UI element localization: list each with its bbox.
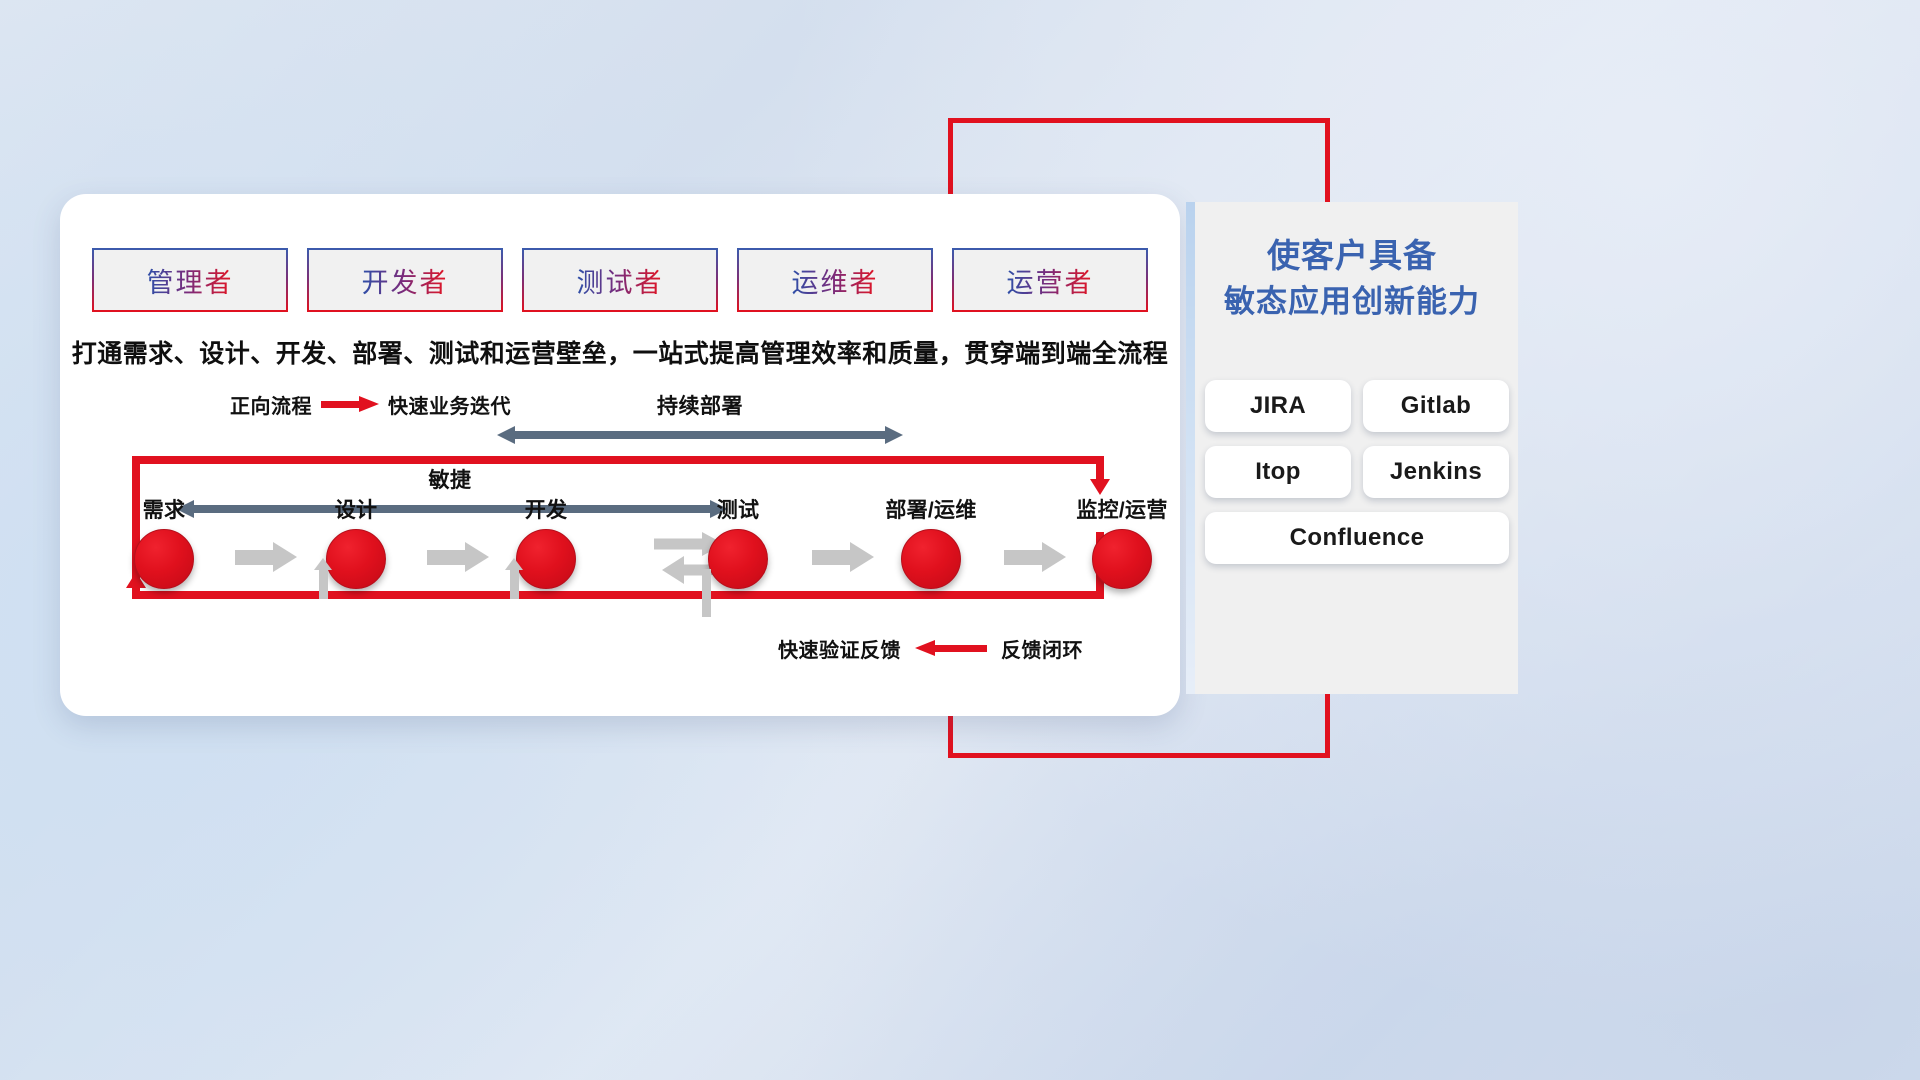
connector-bottom-right-vertical [1325, 694, 1330, 758]
pipeline-stage-development[interactable]: 开发 [482, 494, 610, 589]
pipeline-stage-requirement[interactable]: 需求 [100, 494, 228, 589]
feeder-line-design [319, 569, 328, 599]
feeder-arrowhead-design [314, 558, 332, 570]
role-box-row: 管理者 开发者 测试者 运维者 运营者 [92, 248, 1148, 312]
tool-chip-label: Jenkins [1390, 458, 1482, 486]
continuous-deployment-label: 持续部署 [490, 390, 910, 420]
stage-label: 部署/运维 [867, 494, 995, 524]
tool-chip-itop[interactable]: Itop [1205, 446, 1351, 498]
stage-dot [134, 529, 194, 589]
tool-chip-label: Confluence [1290, 524, 1425, 552]
role-label: 开发者 [362, 261, 449, 300]
feedback-left-label: 快速验证反馈 [778, 634, 901, 663]
connector-top-horizontal [948, 118, 1330, 123]
connector-bottom-horizontal [948, 753, 1330, 758]
pipeline-stage-monitor-operations[interactable]: 监控/运营 [1058, 494, 1186, 589]
forward-flow-legend: 正向流程 快速业务迭代 [230, 390, 511, 419]
chevron-arrow-right-icon [1004, 542, 1066, 572]
panel-title-line2: 敏态应用创新能力 [1186, 280, 1518, 325]
value-proposition-panel: 使客户具备 敏态应用创新能力 JIRA Gitlab Itop Jenkins … [1186, 202, 1518, 694]
tool-chip-confluence[interactable]: Confluence [1205, 512, 1509, 564]
pipeline-stage-test[interactable]: 测试 [674, 494, 802, 589]
stage-dot [516, 529, 576, 589]
tool-chip-jenkins[interactable]: Jenkins [1363, 446, 1509, 498]
feedback-loop-right-arrowhead [1090, 479, 1110, 495]
feeder-line-test [702, 569, 711, 617]
role-label: 管理者 [147, 261, 234, 300]
role-box-manager[interactable]: 管理者 [92, 248, 288, 312]
tool-chip-label: Itop [1255, 458, 1301, 486]
role-label: 运营者 [1007, 261, 1094, 300]
connector-top-right-vertical [1325, 118, 1330, 202]
panel-title-line1: 使客户具备 [1186, 232, 1518, 280]
role-box-operations[interactable]: 运营者 [952, 248, 1148, 312]
feeder-arrowhead-development [505, 558, 523, 570]
chevron-arrow-right-icon [427, 542, 489, 572]
tool-chip-list: JIRA Gitlab Itop Jenkins Confluence [1196, 380, 1518, 564]
pipeline-stage-deploy-ops[interactable]: 部署/运维 [867, 494, 995, 589]
panel-title: 使客户具备 敏态应用创新能力 [1186, 232, 1518, 325]
chevron-arrow-right-icon [812, 542, 874, 572]
feeder-line-development [510, 569, 519, 599]
stage-dot [1092, 529, 1152, 589]
stage-dot [901, 529, 961, 589]
stage-dot [326, 529, 386, 589]
stage-label: 需求 [100, 494, 228, 524]
feedback-loop-top [132, 456, 1104, 464]
slide-canvas: 管理者 开发者 测试者 运维者 运营者 打通需求、设计、开发、部署、测试和运营壁… [0, 0, 1920, 1080]
tool-chip-jira[interactable]: JIRA [1205, 380, 1351, 432]
feedback-legend: 快速验证反馈 反馈闭环 [778, 634, 1083, 663]
stage-label: 监控/运营 [1058, 494, 1186, 524]
feedback-loop-right [1096, 456, 1104, 481]
main-content-card: 管理者 开发者 测试者 运维者 运营者 打通需求、设计、开发、部署、测试和运营壁… [60, 194, 1180, 716]
tool-chip-label: JIRA [1250, 392, 1306, 420]
role-label: 运维者 [792, 261, 879, 300]
role-box-ops[interactable]: 运维者 [737, 248, 933, 312]
stage-label: 开发 [482, 494, 610, 524]
tool-chip-gitlab[interactable]: Gitlab [1363, 380, 1509, 432]
arrow-right-red-icon [321, 396, 379, 413]
role-label: 测试者 [577, 261, 664, 300]
chevron-arrow-right-icon [235, 542, 297, 572]
pipeline-stage-design[interactable]: 设计 [292, 494, 420, 589]
forward-flow-left-label: 正向流程 [230, 390, 312, 419]
stage-label: 测试 [674, 494, 802, 524]
feedback-right-label: 反馈闭环 [1001, 634, 1083, 663]
arrow-left-red-icon [915, 640, 987, 657]
continuous-deployment-arrow-icon [497, 426, 903, 444]
tool-chip-label: Gitlab [1401, 392, 1471, 420]
pipeline-stage-row: 需求 设计 开发 [92, 494, 1148, 604]
stage-label: 设计 [292, 494, 420, 524]
agile-label: 敏捷 [170, 464, 730, 494]
role-box-tester[interactable]: 测试者 [522, 248, 718, 312]
role-box-developer[interactable]: 开发者 [307, 248, 503, 312]
card-subtitle: 打通需求、设计、开发、部署、测试和运营壁垒，一站式提高管理效率和质量，贯穿端到端… [60, 334, 1180, 370]
stage-dot [708, 529, 768, 589]
